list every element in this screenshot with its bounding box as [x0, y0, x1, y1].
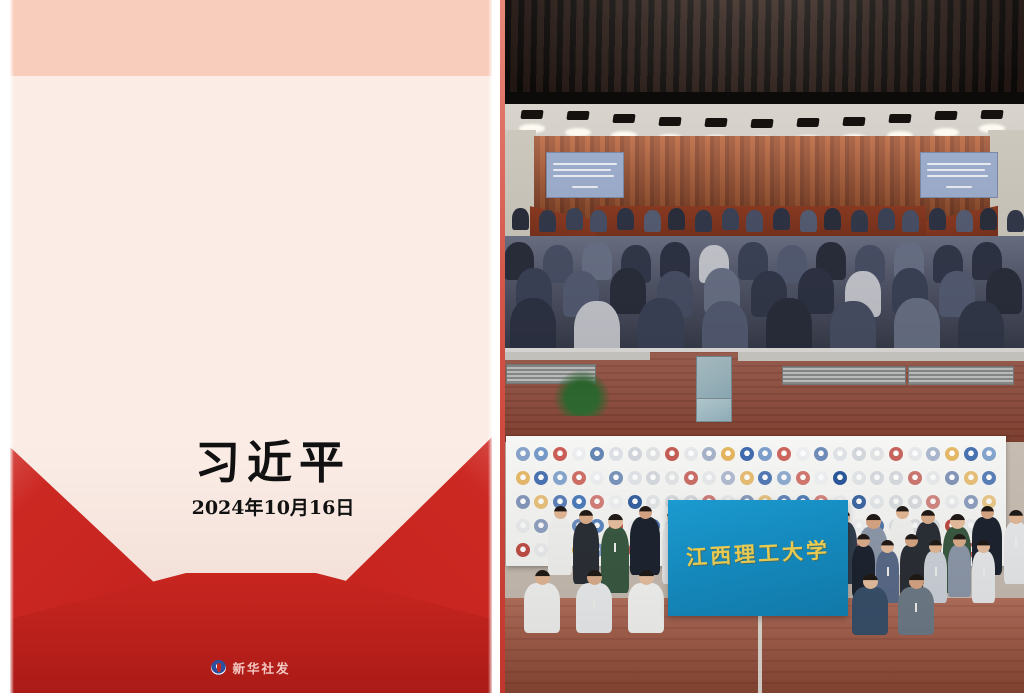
photo-top-gradient	[500, 0, 1024, 348]
signature-block: 习近平 2024年10月16日	[10, 436, 492, 522]
photo-conference-hall	[500, 0, 1024, 348]
xinhua-logo-icon	[211, 660, 226, 675]
signature-name: 习近平	[10, 436, 492, 490]
paper-edge-left	[10, 0, 14, 693]
credit-label: 新华社发	[232, 658, 290, 677]
letter-panel: 习近平给中国国际大学生创新大赛 参赛学生代表的回信 中国国际大学生创新大赛参赛学…	[10, 0, 492, 693]
photo-group-photo: 江西理工大学	[500, 348, 1024, 693]
paper-edge-right	[488, 0, 492, 693]
photo-column: 江西理工大学	[500, 0, 1024, 693]
wall-vent-far-right	[908, 366, 1014, 385]
poster-page: 习近平给中国国际大学生创新大赛 参赛学生代表的回信 中国国际大学生创新大赛参赛学…	[0, 0, 1024, 693]
stairwell-window-upper	[696, 356, 732, 400]
wall-vent-right	[782, 366, 906, 385]
stairwell-window-lower	[696, 398, 732, 422]
parapet-right	[738, 352, 1024, 361]
palm-foliage	[554, 370, 610, 416]
agency-credit: 新华社发	[10, 658, 492, 677]
banner-text: 江西理工大学	[667, 533, 848, 572]
parapet-left	[500, 352, 650, 360]
pavement-seam	[758, 604, 762, 693]
letter-header-band	[10, 0, 492, 76]
letter-paper	[10, 76, 492, 693]
university-banner: 江西理工大学	[668, 500, 848, 616]
signature-date: 2024年10月16日	[10, 494, 492, 522]
photo-column-edge	[500, 0, 505, 693]
